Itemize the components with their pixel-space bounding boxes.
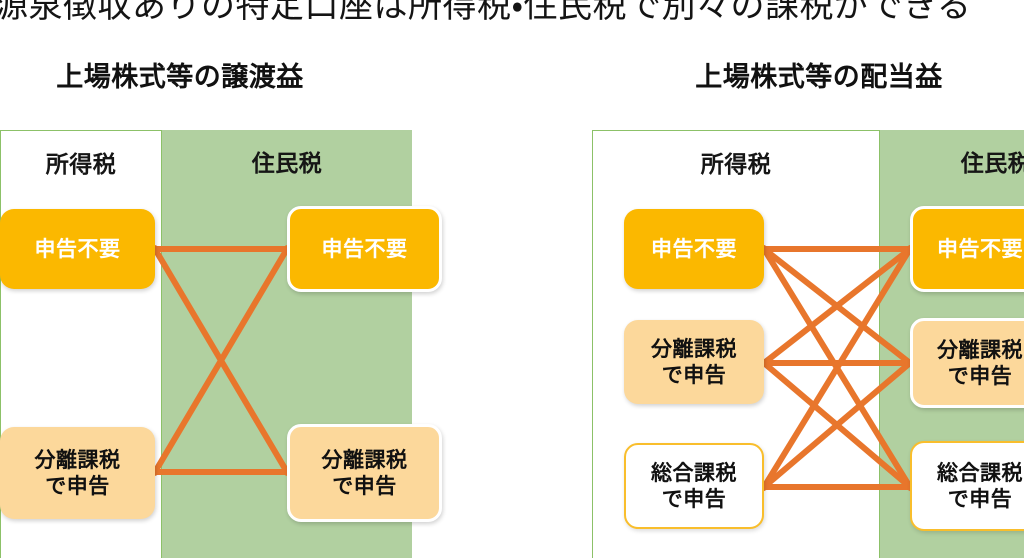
node-label: 申告不要 [651, 236, 737, 262]
node-resident-aggregate-right[interactable]: 総合課税 で申告 [910, 441, 1024, 531]
node-label: 総合課税 で申告 [937, 460, 1023, 513]
node-label: 申告不要 [937, 236, 1023, 262]
node-label: 申告不要 [35, 236, 121, 262]
figure-title-dividend-income: 上場株式等の配当益 [604, 55, 1024, 94]
node-label: 申告不要 [322, 236, 408, 262]
panel-label-resident-tax: 住民税 [880, 144, 1024, 178]
node-label: 分離課税 で申告 [35, 447, 121, 500]
panel-label-income-tax: 所得税 [593, 145, 879, 179]
node-resident-separate-left[interactable]: 分離課税 で申告 [287, 424, 442, 522]
node-label: 分離課税 で申告 [651, 336, 737, 389]
node-resident-no-filing-right[interactable]: 申告不要 [910, 206, 1024, 292]
node-resident-separate-right[interactable]: 分離課税 で申告 [910, 318, 1024, 408]
figures-container: 上場株式等の譲渡益 所得税 住民税 申告不要 分離課税 で申告 申告不要 分離課… [0, 0, 1024, 558]
node-income-no-filing-right[interactable]: 申告不要 [624, 209, 764, 289]
node-label: 分離課税 で申告 [322, 447, 408, 500]
figure-capital-gains: 上場株式等の譲渡益 所得税 住民税 申告不要 分離課税 で申告 申告不要 分離課… [0, 0, 450, 558]
node-income-separate-right[interactable]: 分離課税 で申告 [624, 320, 764, 404]
node-label: 分離課税 で申告 [937, 337, 1023, 390]
node-income-no-filing-left[interactable]: 申告不要 [0, 209, 155, 289]
figure-title-capital-gains: 上場株式等の譲渡益 [0, 55, 390, 94]
node-income-separate-left[interactable]: 分離課税 で申告 [0, 427, 155, 519]
node-resident-no-filing-left[interactable]: 申告不要 [287, 206, 442, 292]
figure-dividend-income: 上場株式等の配当益 所得税 住民税 申告不要 分離課税 で申告 [592, 0, 1024, 558]
node-label: 総合課税 で申告 [651, 460, 737, 513]
panel-label-income-tax: 所得税 [1, 145, 161, 179]
panel-label-resident-tax: 住民税 [162, 144, 412, 178]
node-income-aggregate-right[interactable]: 総合課税 で申告 [624, 443, 764, 529]
